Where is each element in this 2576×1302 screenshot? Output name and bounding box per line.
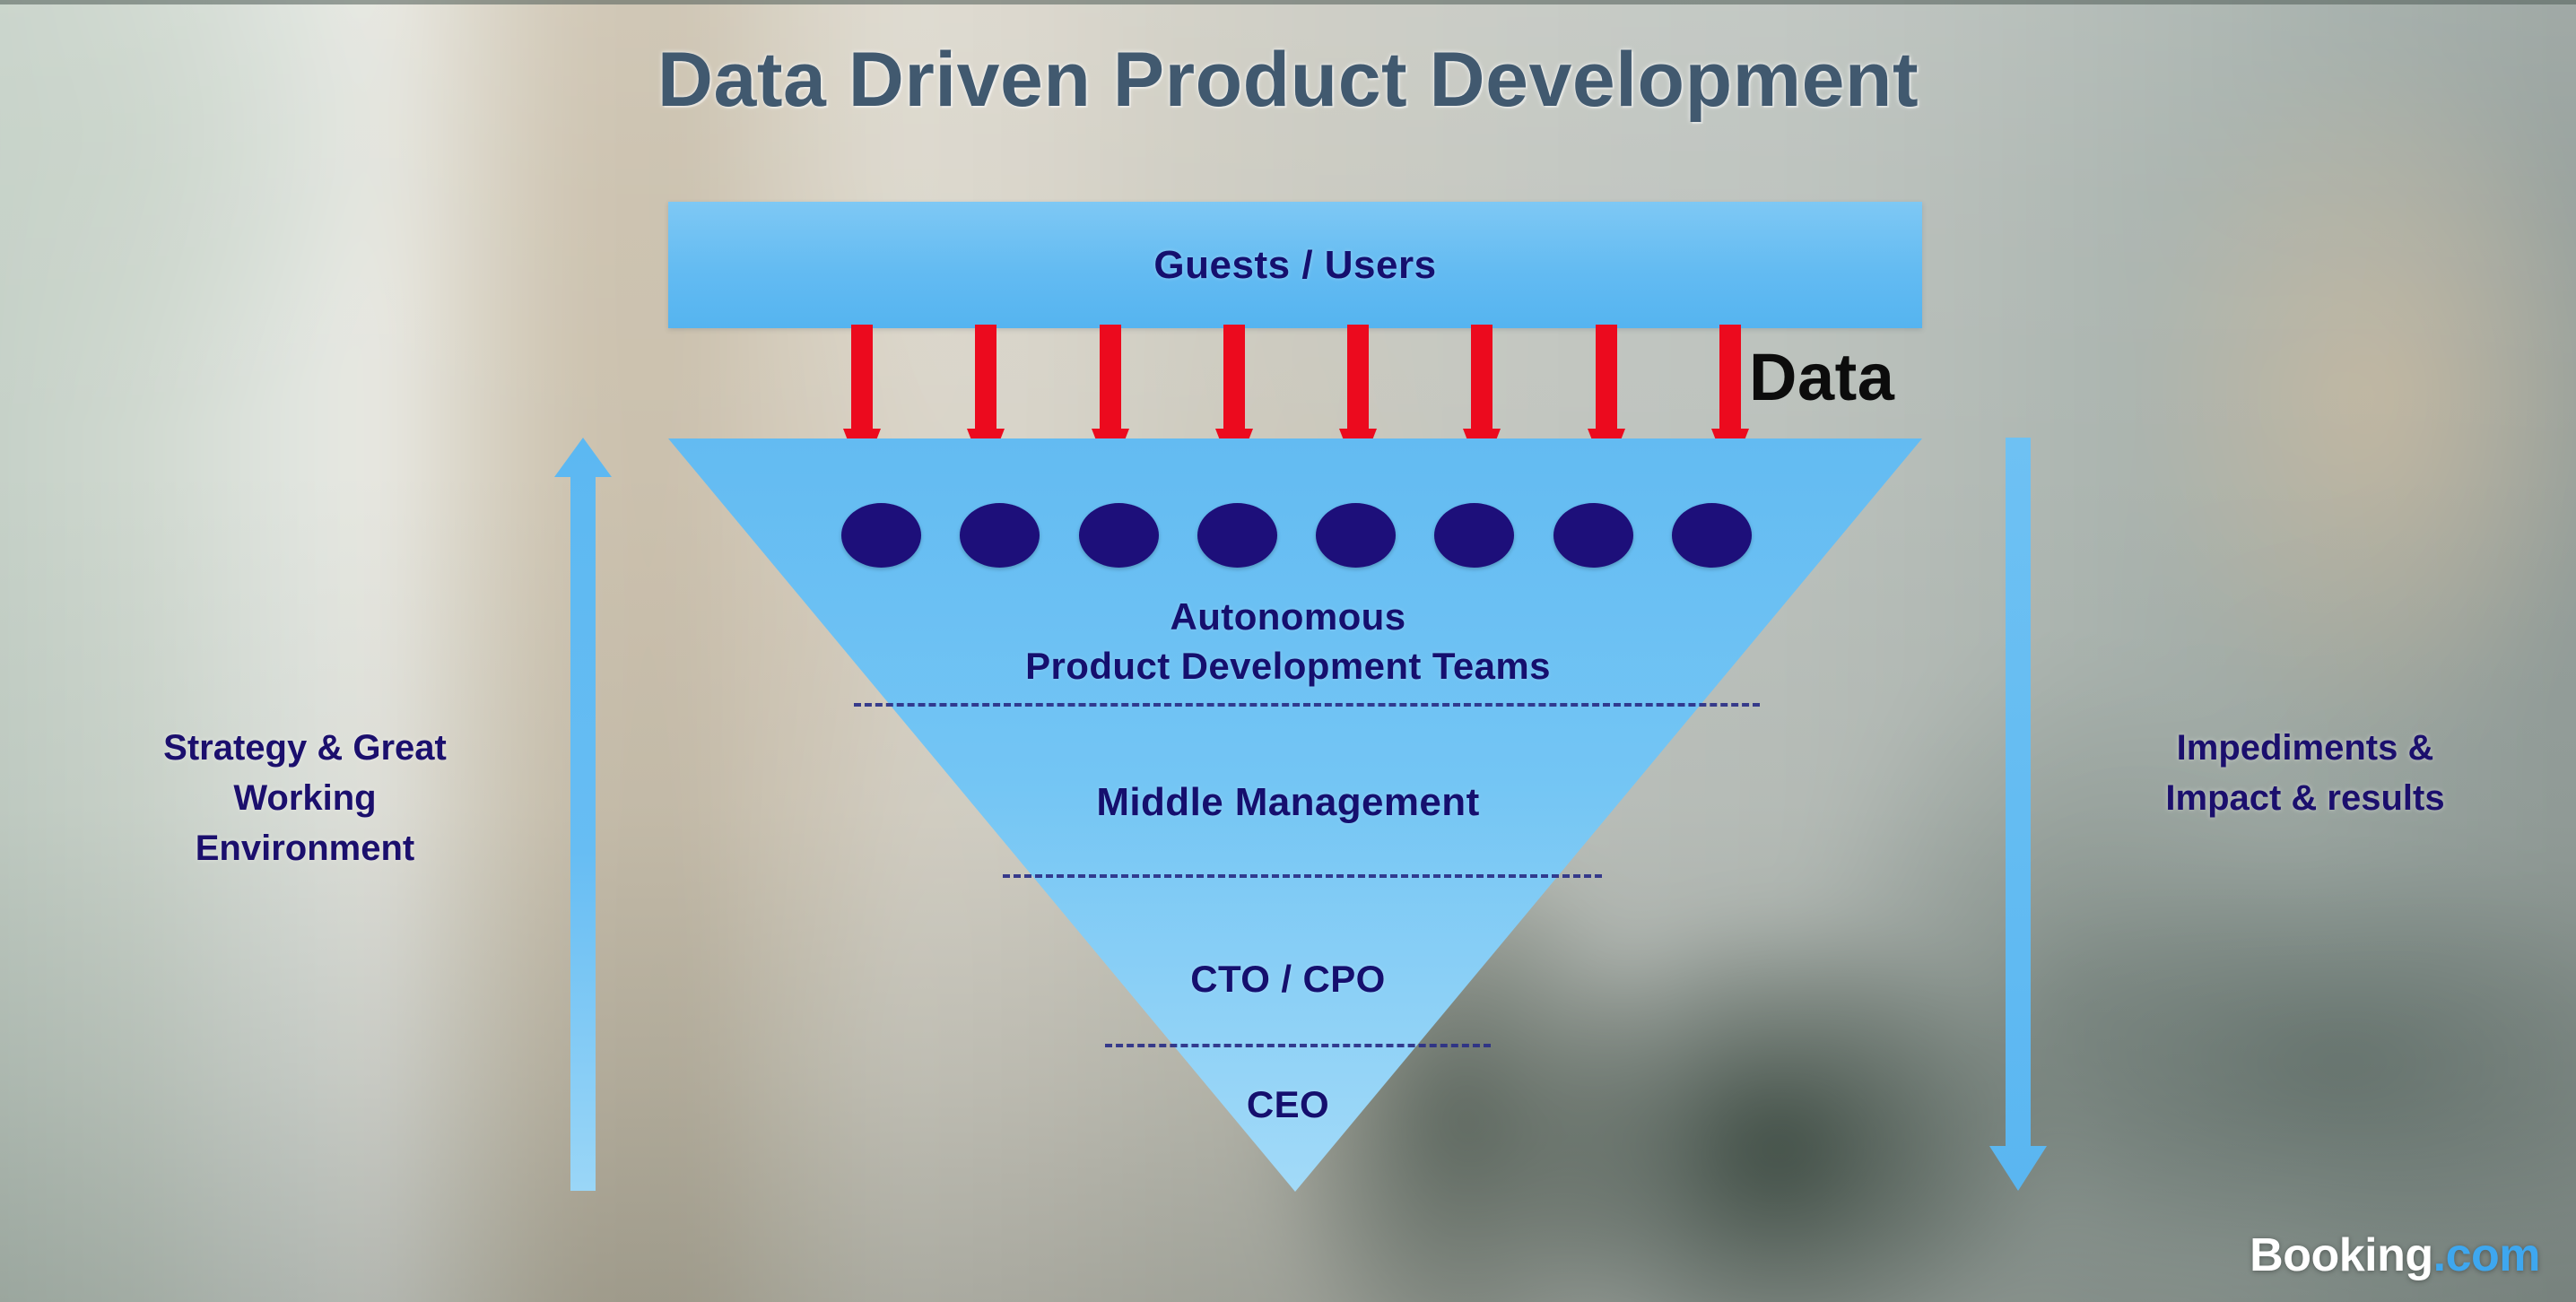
impediments-down-arrow-icon [1989, 438, 2047, 1191]
strategy-up-arrow-icon [554, 438, 612, 1191]
data-flow-label: Data [1749, 339, 1894, 415]
team-dot [841, 503, 921, 568]
layer-divider-exec-ceo [1105, 1044, 1491, 1047]
autonomous-team-dot-row [841, 500, 1752, 570]
right-caption-line2: Impact & results [2054, 773, 2556, 823]
team-dot [1672, 503, 1752, 568]
autonomous-teams-label-line2: Product Development Teams [0, 641, 2576, 690]
team-dot [1553, 503, 1633, 568]
team-dot [960, 503, 1040, 568]
autonomous-teams-label: Autonomous Product Development Teams [0, 592, 2576, 690]
layer-divider-middle-exec [1003, 874, 1602, 878]
autonomous-teams-label-line1: Autonomous [0, 592, 2576, 641]
slide-canvas: Data Driven Product Development Guests /… [0, 0, 2576, 1302]
guests-users-label: Guests / Users [668, 202, 1922, 328]
guests-users-bar: Guests / Users [668, 202, 1922, 328]
left-caption-line3: Environment [54, 823, 556, 873]
layer-divider-teams-middle [854, 703, 1760, 707]
left-caption-line2: Working [54, 773, 556, 823]
team-dot [1197, 503, 1277, 568]
frame-top-edge [0, 0, 2576, 4]
booking-logo-tld: .com [2433, 1229, 2540, 1281]
right-caption-line1: Impediments & [2054, 723, 2556, 773]
booking-com-logo: Booking.com [2250, 1228, 2540, 1282]
ceo-label: CEO [0, 1083, 2576, 1126]
left-side-caption: Strategy & Great Working Environment [54, 723, 556, 873]
team-dot [1079, 503, 1159, 568]
right-side-caption: Impediments & Impact & results [2054, 723, 2556, 823]
team-dot [1316, 503, 1396, 568]
booking-logo-word: Booking [2250, 1229, 2432, 1281]
slide-title: Data Driven Product Development [0, 36, 2576, 125]
team-dot [1434, 503, 1514, 568]
cto-cpo-label: CTO / CPO [0, 958, 2576, 1001]
left-caption-line1: Strategy & Great [54, 723, 556, 773]
